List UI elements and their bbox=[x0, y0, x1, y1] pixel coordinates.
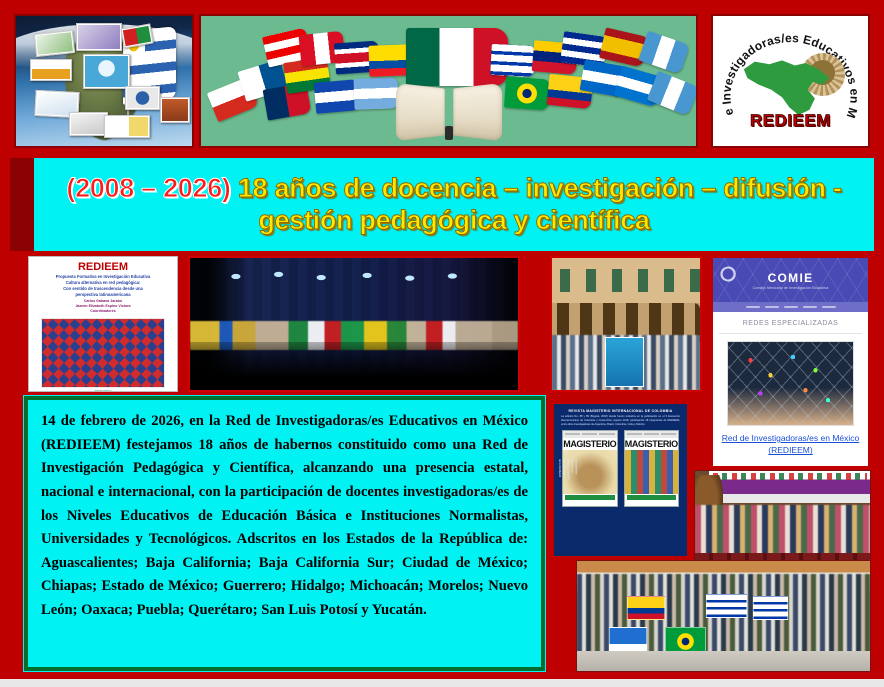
comie-nav-item[interactable] bbox=[803, 306, 817, 308]
cover-hero-image bbox=[625, 450, 679, 494]
comie-nav-item[interactable] bbox=[765, 306, 779, 308]
book-cover-footer: REDIEEM Comité Ajustador de Ciencia bbox=[29, 390, 177, 392]
magisterio-magazine-panel: REVISTA MAGISTERIO INTERNACIONAL DE COLO… bbox=[554, 404, 687, 556]
venue-ground bbox=[577, 651, 870, 671]
open-book-icon bbox=[397, 86, 501, 138]
cover-masthead-strip bbox=[563, 431, 617, 438]
stage-lights bbox=[190, 266, 518, 287]
title-years: (2008 – 2026) bbox=[66, 173, 230, 203]
collage-card-item bbox=[76, 23, 122, 52]
collage-card-item bbox=[83, 54, 131, 89]
announcement-text-box: 14 de febrero de 2026, en la Red de Inve… bbox=[24, 396, 545, 671]
magisterio-note: La edición No. 88 y 89 (Bogotá, 2018) do… bbox=[555, 415, 686, 430]
building-windows bbox=[552, 269, 700, 293]
collage-card-item bbox=[34, 30, 75, 57]
comie-tagline: Consejo Mexicano de Investigación Educat… bbox=[753, 286, 829, 290]
magisterio-cover-title: MAGISTERIO bbox=[563, 438, 617, 450]
flag-uruguay-held-icon bbox=[706, 594, 747, 618]
iberoamerican-conference-photo bbox=[694, 470, 871, 567]
stage-event-photo bbox=[188, 256, 520, 392]
conference-sponsor-logos bbox=[713, 473, 867, 480]
title-banner: (2008 – 2026) 18 años de docencia – inve… bbox=[10, 158, 874, 251]
cover-masthead-strip bbox=[625, 431, 679, 438]
flag-guatemala2-icon bbox=[647, 71, 698, 116]
announcement-body-text: 14 de febrero de 2026, en la Red de Inve… bbox=[41, 410, 528, 623]
flag-colombia-held-icon bbox=[627, 596, 665, 620]
magisterio-cover-title: MAGISTERIO bbox=[625, 438, 679, 450]
book-cover-subtitle: Propuesta Formativa en Investigación Edu… bbox=[29, 273, 177, 298]
book-cover-artwork bbox=[41, 318, 165, 388]
international-group-photo bbox=[576, 560, 871, 672]
comie-redieem-link[interactable]: Red de Investigadoras/es en México (REDI… bbox=[719, 432, 862, 457]
book-spine bbox=[445, 126, 453, 140]
redieem-acronym: REDIEEM bbox=[750, 111, 831, 131]
book-page-right bbox=[453, 83, 502, 141]
collage-card-item bbox=[160, 97, 190, 123]
comie-brand-name: COMIE bbox=[768, 271, 814, 285]
flag-argentina-icon bbox=[354, 78, 399, 111]
redieem-logo: Red de Investigadoras/es Educativos en M… bbox=[711, 14, 870, 148]
cover-article-thumbs bbox=[563, 501, 617, 507]
flag-uruguay2-held-icon bbox=[753, 596, 788, 620]
collage-photo-latinoamerica bbox=[14, 14, 194, 148]
flag-brasil-icon bbox=[504, 77, 550, 111]
poster-canvas: Red de Investigadoras/es Educativos en M… bbox=[0, 0, 884, 687]
magisterio-side-note: Dos números editados en Bogotá, Colombia… bbox=[557, 459, 578, 480]
redieem-logo-inner: Red de Investigadoras/es Educativos en M… bbox=[717, 20, 864, 142]
collage-card-item bbox=[69, 112, 108, 135]
comie-nav-item[interactable] bbox=[784, 306, 798, 308]
comie-nav-item[interactable] bbox=[746, 306, 760, 308]
redieem-book-cover: REDIEEM Propuesta Formativa en Investiga… bbox=[28, 256, 178, 392]
group-photo-colonial-building bbox=[550, 256, 702, 392]
book-cover-title: REDIEEM bbox=[29, 261, 177, 273]
comie-header: COMIE Consejo Mexicano de Investigación … bbox=[713, 258, 868, 302]
cover-color-bar bbox=[627, 495, 677, 500]
flag-guatemala-icon bbox=[638, 30, 690, 74]
book-cover-authors: Carlos Gabana Jarabo Jazmín Elizabeth Es… bbox=[29, 299, 177, 315]
comie-website-screenshot: COMIE Consejo Mexicano de Investigación … bbox=[711, 256, 870, 468]
cover-color-bar bbox=[565, 495, 615, 500]
title-rest: 18 años de docencia – investigación – di… bbox=[231, 173, 842, 235]
comie-nav-bar[interactable] bbox=[713, 302, 868, 312]
magisterio-header: REVISTA MAGISTERIO INTERNACIONAL DE COLO… bbox=[555, 405, 686, 415]
comie-network-hand-image bbox=[727, 341, 854, 426]
latin-american-flags-banner bbox=[199, 14, 698, 148]
conference-attendees bbox=[695, 505, 870, 554]
event-banner bbox=[605, 337, 643, 387]
comie-section-heading: REDES ESPECIALIZADAS bbox=[719, 312, 862, 334]
book-page-left bbox=[395, 83, 444, 141]
page-title: (2008 – 2026) 18 años de docencia – inve… bbox=[51, 173, 857, 237]
cover-article-thumbs bbox=[625, 501, 679, 507]
stage-audience-silhouettes bbox=[190, 342, 518, 390]
comie-nav-item[interactable] bbox=[822, 306, 836, 308]
collage-card-item bbox=[104, 115, 150, 138]
comie-logo-icon bbox=[719, 266, 745, 282]
magisterio-cover-issue-b: MAGISTERIO bbox=[624, 430, 680, 508]
collage-card-item bbox=[30, 59, 72, 81]
bottom-edge-strip bbox=[0, 679, 884, 687]
collage-card-item bbox=[125, 86, 160, 109]
flag-uruguay-icon bbox=[490, 43, 536, 76]
